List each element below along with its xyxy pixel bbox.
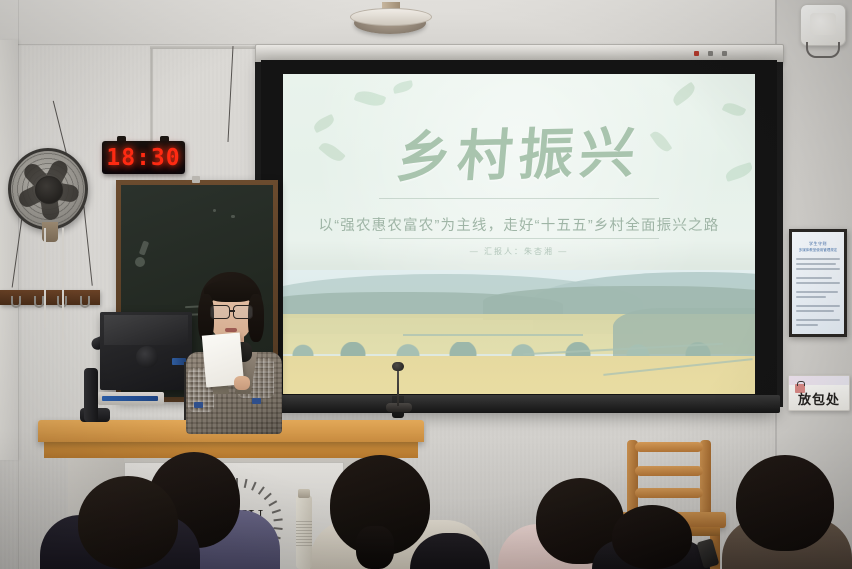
bag-drop-sign: 放包处 xyxy=(788,375,850,411)
coat-hook-2[interactable] xyxy=(34,296,44,308)
audience-head-6 xyxy=(736,455,834,551)
framed-notice: 学生守则 多媒体教室使用管理规定 xyxy=(792,232,844,334)
slide-main-title: 乡村振兴 xyxy=(283,105,755,195)
fan-hub xyxy=(35,176,63,204)
notice-title: 学生守则 xyxy=(792,241,844,247)
slide-rule-bottom xyxy=(379,238,659,239)
notice-subtitle: 多媒体教室使用管理规定 xyxy=(792,248,844,253)
presentation-slide: 乡村振兴 以“强农惠农富农”为主线，走好“十五五”乡村全面振兴之路 — 汇报人：… xyxy=(283,74,755,394)
wall-fan[interactable] xyxy=(8,148,88,230)
digital-clock: 18:30 xyxy=(102,141,185,174)
coat-hook-4[interactable] xyxy=(80,296,90,308)
photo-field-lower xyxy=(283,356,755,394)
classroom-scene: 乡村振兴 以“强农惠农富农”为主线，走好“十五五”乡村全面振兴之路 — 汇报人：… xyxy=(0,0,852,569)
presenter-mouth xyxy=(225,328,237,332)
speaker-cable xyxy=(806,42,840,58)
audience-ponytail-3 xyxy=(356,526,394,569)
audience-head-5 xyxy=(612,505,692,569)
coat-badge-2 xyxy=(194,402,203,408)
bag-drop-label: 放包处 xyxy=(789,389,849,408)
ceiling-speaker-icon xyxy=(348,2,432,36)
water-bottle-cap xyxy=(298,489,310,498)
microphone-neck xyxy=(397,368,399,406)
podium-ledge xyxy=(44,440,418,458)
audience-head-2 xyxy=(78,476,178,569)
slide-rule-top xyxy=(379,198,659,199)
photo-hedge-1 xyxy=(403,334,583,336)
slide-presenter-line: — 汇报人：朱杏湘 — xyxy=(283,246,755,257)
coat-badge-1 xyxy=(252,398,261,404)
coat-hook-1[interactable] xyxy=(11,296,21,308)
presenter-hand xyxy=(234,376,250,390)
monitor-mount-hub xyxy=(136,346,158,368)
presenter xyxy=(176,272,286,432)
slide-subtitle: 以“强农惠农富农”为主线，走好“十五五”乡村全面振兴之路 xyxy=(283,214,755,235)
wall-speaker-icon xyxy=(800,4,846,46)
screen-edge-right xyxy=(777,62,783,407)
glasses-lens-right xyxy=(233,305,253,319)
slide-landscape-photo xyxy=(283,270,755,394)
clock-time-display: 18:30 xyxy=(106,145,180,171)
fan-pull-cord-2[interactable] xyxy=(62,228,64,340)
screen-bottom-bar xyxy=(258,395,780,413)
wall-seam-left xyxy=(18,0,19,569)
wall-conduit-horizontal xyxy=(150,46,270,49)
fan-pull-cord-1[interactable] xyxy=(44,228,46,328)
glasses-bridge xyxy=(229,310,235,312)
microphone-head[interactable] xyxy=(392,362,404,371)
glasses-lens-left xyxy=(210,305,230,319)
podium-device-strip xyxy=(102,396,158,401)
monitor-arm-post xyxy=(84,368,98,422)
blackboard-clip xyxy=(192,176,200,183)
water-bottle-label xyxy=(296,520,312,546)
wall-column-left xyxy=(0,40,18,460)
